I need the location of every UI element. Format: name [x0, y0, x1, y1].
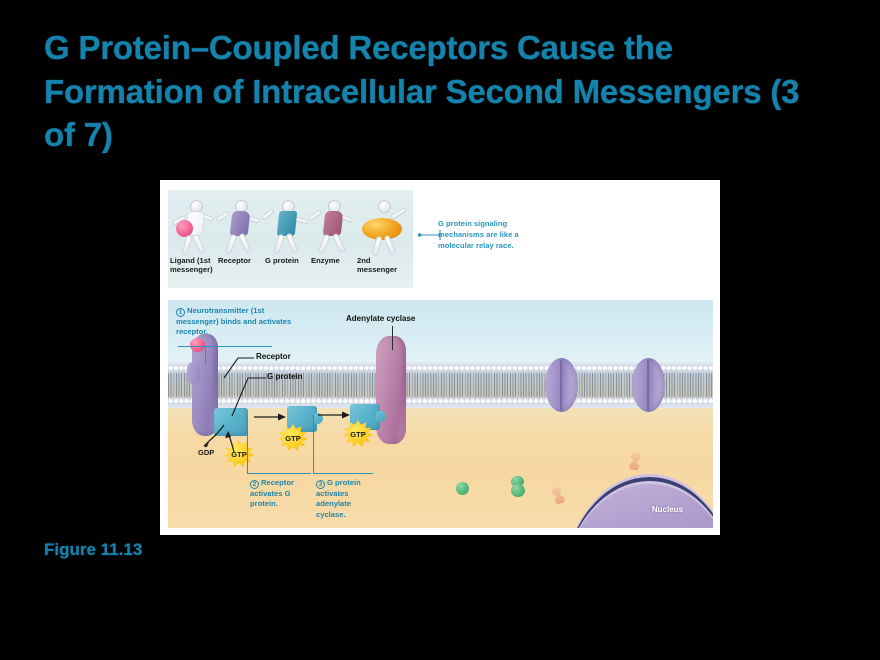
runner-body-receptor	[230, 211, 251, 236]
runner-leg	[225, 234, 237, 255]
gtp-label: GTP	[285, 434, 300, 443]
annotation-underline-1	[178, 346, 272, 347]
annotation-overline-2	[247, 473, 311, 474]
second-messenger-blob-icon	[362, 218, 402, 240]
step-number-3: 3	[316, 480, 325, 489]
step-text-1: Neurotransmitter (1st messenger) binds a…	[176, 306, 291, 336]
relay-race-inset: Ligand (1st messenger) Receptor G protei…	[168, 190, 413, 288]
transition-arrow-2	[318, 410, 352, 420]
annotation-step-3: 3G protein activates adenylate cyclase.	[316, 478, 372, 520]
runner-leg	[332, 233, 346, 254]
nuclear-pore	[550, 486, 566, 506]
runner-leg	[383, 235, 396, 256]
gprotein-leader-line	[230, 376, 268, 420]
gdp-gtp-exchange-arrows	[194, 422, 250, 458]
annotation-leader-2	[247, 416, 248, 474]
annotation-leader-3	[313, 414, 314, 474]
label-g-protein: G protein	[267, 372, 303, 381]
runner-arm	[308, 209, 322, 221]
vesicle	[456, 482, 469, 495]
runner-body-enzyme	[323, 211, 344, 236]
adenylate-cyclase-enzyme	[376, 336, 406, 444]
runner-label-enzyme: Enzyme	[311, 256, 357, 275]
page-title: G Protein–Coupled Receptors Cause the Fo…	[44, 26, 834, 157]
runner-arm	[261, 208, 275, 221]
figure-panel: Ligand (1st messenger) Receptor G protei…	[160, 180, 720, 535]
annotation-step-1: 1Neurotransmitter (1st messenger) binds …	[176, 306, 304, 338]
label-adenylate-cyclase: Adenylate cyclase	[346, 314, 415, 323]
membrane-protein-oval	[632, 358, 665, 412]
runner-enzyme	[312, 198, 356, 258]
runner-label-gprotein: G protein	[265, 256, 311, 275]
annotation-overline-3	[313, 473, 373, 474]
step-number-1: 1	[176, 308, 185, 317]
annotation-step-2: 2Receptor activates G protein.	[250, 478, 312, 510]
membrane-protein-oval	[545, 358, 578, 412]
runner-leg	[181, 235, 192, 256]
runner-receptor	[219, 198, 263, 258]
figure-caption: Figure 11.13	[44, 540, 142, 560]
ligand-ball-icon	[176, 220, 193, 237]
gtp-label: GTP	[350, 430, 365, 439]
runner-body-gprotein	[277, 211, 298, 236]
runner-leg	[192, 234, 206, 255]
runner-leg	[317, 234, 330, 255]
nuclear-pore	[629, 452, 642, 470]
runner-leg	[285, 233, 298, 254]
label-receptor: Receptor	[256, 352, 291, 361]
runner-second-messenger	[360, 198, 412, 258]
step-number-2: 2	[250, 480, 259, 489]
runner-leg	[273, 234, 285, 255]
runner-label-receptor: Receptor	[218, 256, 265, 275]
annotation-leader-1	[205, 346, 206, 364]
runner-ligand	[174, 198, 218, 258]
runner-head-icon	[378, 200, 391, 213]
callout-text: G protein signaling mechanisms are like …	[438, 218, 548, 251]
vesicle	[511, 484, 525, 497]
runner-g-protein	[266, 198, 310, 258]
runner-label-ligand: Ligand (1st messenger)	[170, 256, 218, 275]
runner-leg	[238, 233, 252, 254]
cell-diagram: GTP GTP GTP GDP	[168, 300, 713, 528]
runner-row	[174, 196, 408, 258]
runner-label-second-messenger: 2nd messenger	[357, 256, 407, 275]
nucleus	[562, 474, 713, 528]
slide-root: G Protein–Coupled Receptors Cause the Fo…	[0, 0, 880, 660]
ligand-neurotransmitter-icon	[190, 338, 205, 352]
cyclase-leader-line	[392, 326, 393, 350]
runner-arm	[390, 207, 407, 220]
runner-labels: Ligand (1st messenger) Receptor G protei…	[170, 256, 411, 275]
nucleus-label: Nucleus	[652, 505, 683, 514]
